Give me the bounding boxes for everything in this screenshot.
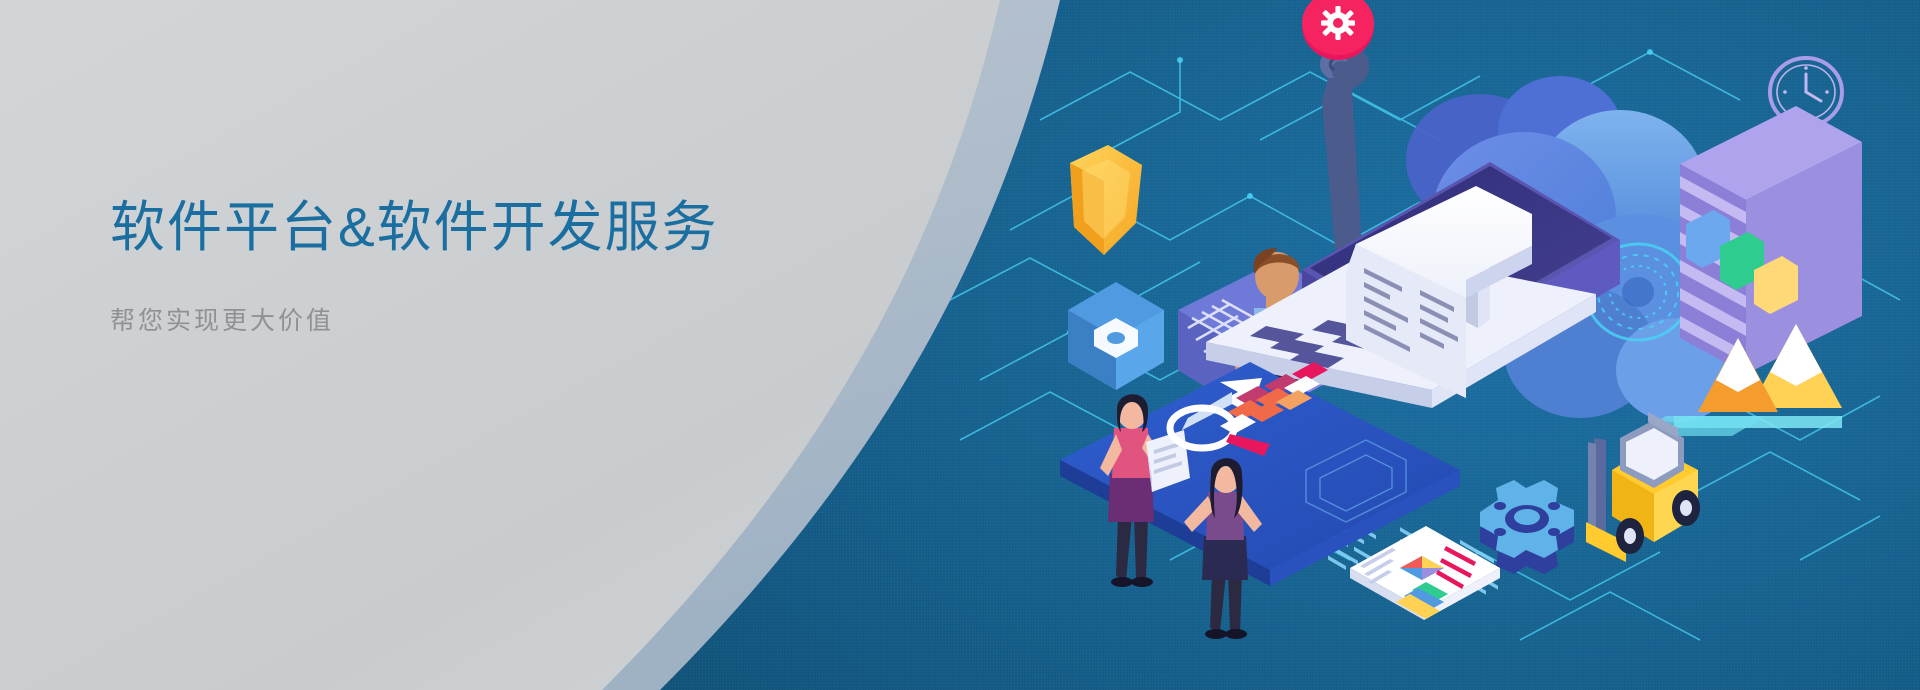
hero-banner: 软件平台&软件开发服务 帮您实现更大价值 [0,0,1920,690]
banner-text-block: 软件平台&软件开发服务 帮您实现更大价值 [110,196,870,337]
page-title: 软件平台&软件开发服务 [110,196,870,259]
page-subtitle: 帮您实现更大价值 [110,301,870,337]
background-gray [0,0,1100,690]
